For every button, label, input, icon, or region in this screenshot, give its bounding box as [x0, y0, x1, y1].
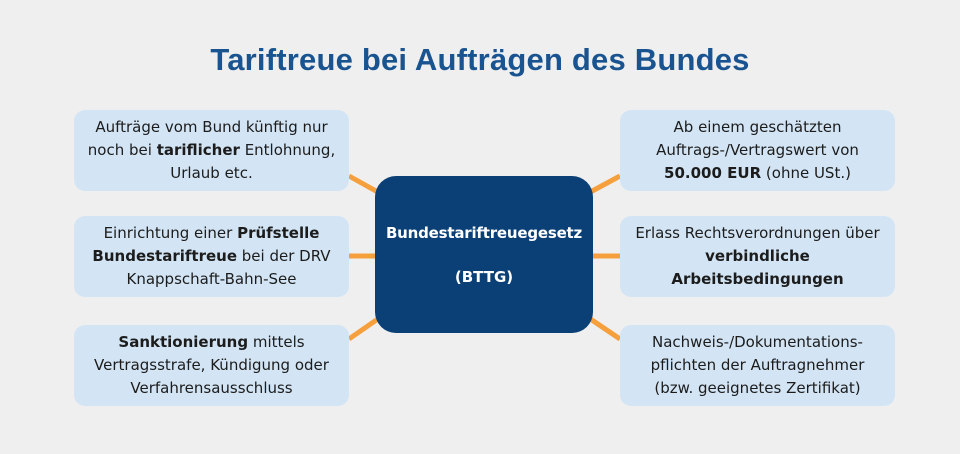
info-box-sanktionierung[interactable]: Sanktionierung mittels Vertragsstrafe, K… — [74, 325, 349, 406]
info-box-text: Ab einem geschätzten Auftrags-/Vertragsw… — [632, 116, 883, 185]
info-box-nachweispflichten[interactable]: Nachweis-/Dokumentations-pflichten der A… — [620, 325, 895, 406]
center-node-bttg[interactable]: Bundestariftreuegesetz (BTTG) — [375, 176, 593, 333]
info-box-text: Aufträge vom Bund künftig nur noch bei t… — [86, 116, 337, 185]
info-box-pruefstelle-bundestariftreue[interactable]: Einrichtung einer Prüfstelle Bundestarif… — [74, 216, 349, 297]
info-box-text: Nachweis-/Dokumentations-pflichten der A… — [632, 331, 883, 400]
info-box-text: Erlass Rechtsverordnungen über verbindli… — [632, 222, 883, 291]
info-box-text: Sanktionierung mittels Vertragsstrafe, K… — [86, 331, 337, 400]
page-title: Tariftreue bei Aufträgen des Bundes — [0, 40, 960, 80]
info-box-tarifliche-entlohnung[interactable]: Aufträge vom Bund künftig nur noch bei t… — [74, 110, 349, 191]
center-node-title: Bundestariftreuegesetz — [386, 224, 582, 242]
center-node-abbreviation: (BTTG) — [455, 268, 513, 286]
infographic-canvas: Tariftreue bei Aufträgen des Bundes Auft… — [0, 0, 960, 454]
info-box-rechtsverordnungen[interactable]: Erlass Rechtsverordnungen über verbindli… — [620, 216, 895, 297]
info-box-auftragswert-schwelle[interactable]: Ab einem geschätzten Auftrags-/Vertragsw… — [620, 110, 895, 191]
info-box-text: Einrichtung einer Prüfstelle Bundestarif… — [86, 222, 337, 291]
